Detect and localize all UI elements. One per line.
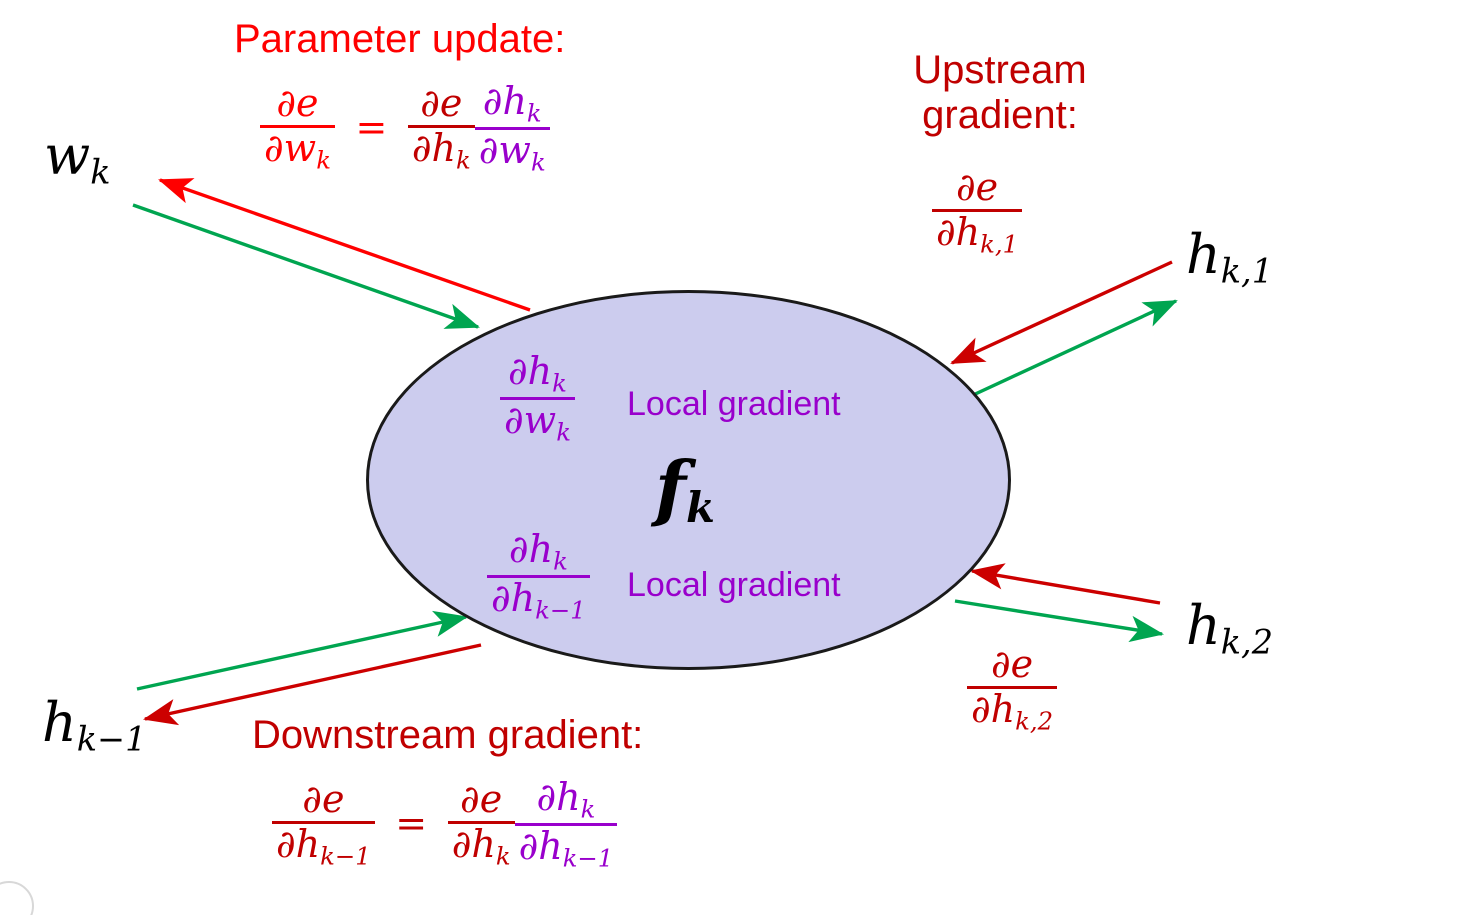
local-gradient-top-denominator: ∂wk [500, 400, 575, 445]
downstream-rhs1-den: ∂hk [448, 824, 515, 869]
local-gradient-top-fraction: ∂hk ∂wk [500, 352, 575, 445]
downstream-lhs-den: ∂hk−1 [272, 824, 375, 869]
param-update-rhs-term2: ∂hk ∂wk [475, 82, 550, 175]
param-update-lhs: ∂e ∂wk [260, 84, 335, 173]
arrow-backward-from-hk1 [952, 262, 1172, 363]
local-gradient-bottom-label: Local gradient [627, 566, 841, 605]
arrow-forward-from-wk [133, 205, 478, 327]
local-gradient-bottom-fraction: ∂hk ∂hk−1 [487, 530, 590, 623]
param-update-rhs-term1: ∂e ∂hk [408, 84, 475, 173]
variable-label-hk2: hk,2 [1186, 598, 1273, 660]
upstream-gradient-2-fraction: ∂e ∂hk,2 [967, 645, 1057, 734]
arrow-forward-to-hk1 [971, 301, 1176, 396]
downstream-gradient-equation: ∂e ∂hk−1 = ∂e ∂hk ∂hk ∂hk−1 [272, 778, 617, 871]
local-gradient-top-label: Local gradient [627, 385, 841, 424]
downstream-rhs2-num: ∂hk [515, 778, 618, 826]
arrow-forward-from-hkm1 [137, 617, 466, 689]
variable-label-hk-minus-1: hk−1 [42, 695, 146, 757]
upstream-gradient-caption: Upstream gradient: [890, 48, 1110, 138]
arrow-backward-to-hkm1 [145, 645, 481, 719]
downstream-rhs-term2: ∂hk ∂hk−1 [515, 778, 618, 871]
downstream-rhs-term1: ∂e ∂hk [448, 780, 515, 869]
param-update-rhs2-num: ∂hk [475, 82, 550, 130]
variable-label-wk: wk [44, 128, 111, 190]
arrow-forward-to-hk2 [955, 601, 1162, 634]
arrow-backward-from-hk2 [972, 571, 1160, 603]
downstream-lhs: ∂e ∂hk−1 [272, 780, 375, 869]
corner-arc-decoration [0, 881, 34, 915]
param-update-equals: = [345, 108, 397, 148]
upstream-gradient-1-numerator: ∂e [932, 168, 1022, 212]
local-gradient-top-numerator: ∂hk [500, 352, 575, 400]
param-update-rhs2-den: ∂wk [475, 130, 550, 175]
upstream-gradient-1-denominator: ∂hk,1 [932, 212, 1022, 257]
downstream-gradient-caption: Downstream gradient: [252, 714, 643, 756]
variable-label-hk1: hk,1 [1186, 227, 1273, 289]
upstream-gradient-1-fraction: ∂e ∂hk,1 [932, 168, 1022, 257]
param-update-lhs-num: ∂e [260, 84, 335, 128]
downstream-rhs1-num: ∂e [448, 780, 515, 824]
diagram-canvas: ∂hk ∂wk Local gradient fk ∂hk ∂hk−1 Loca… [0, 0, 1465, 915]
upstream-gradient-caption-line2: gradient: [922, 93, 1078, 137]
param-update-lhs-den: ∂wk [260, 128, 335, 173]
parameter-update-equation: ∂e ∂wk = ∂e ∂hk ∂hk ∂wk [260, 82, 550, 175]
upstream-gradient-2-denominator: ∂hk,2 [967, 689, 1057, 734]
local-gradient-bottom-denominator: ∂hk−1 [487, 578, 590, 623]
local-gradient-bottom-numerator: ∂hk [487, 530, 590, 578]
downstream-equals: = [385, 804, 437, 844]
parameter-update-caption: Parameter update: [234, 18, 565, 60]
arrow-backward-to-wk [160, 180, 530, 310]
downstream-rhs2-den: ∂hk−1 [515, 826, 618, 871]
param-update-rhs1-den: ∂hk [408, 128, 475, 173]
downstream-lhs-num: ∂e [272, 780, 375, 824]
upstream-gradient-2-numerator: ∂e [967, 645, 1057, 689]
param-update-rhs1-num: ∂e [408, 84, 475, 128]
node-function-symbol: fk [655, 445, 715, 532]
upstream-gradient-caption-line1: Upstream [913, 48, 1086, 92]
